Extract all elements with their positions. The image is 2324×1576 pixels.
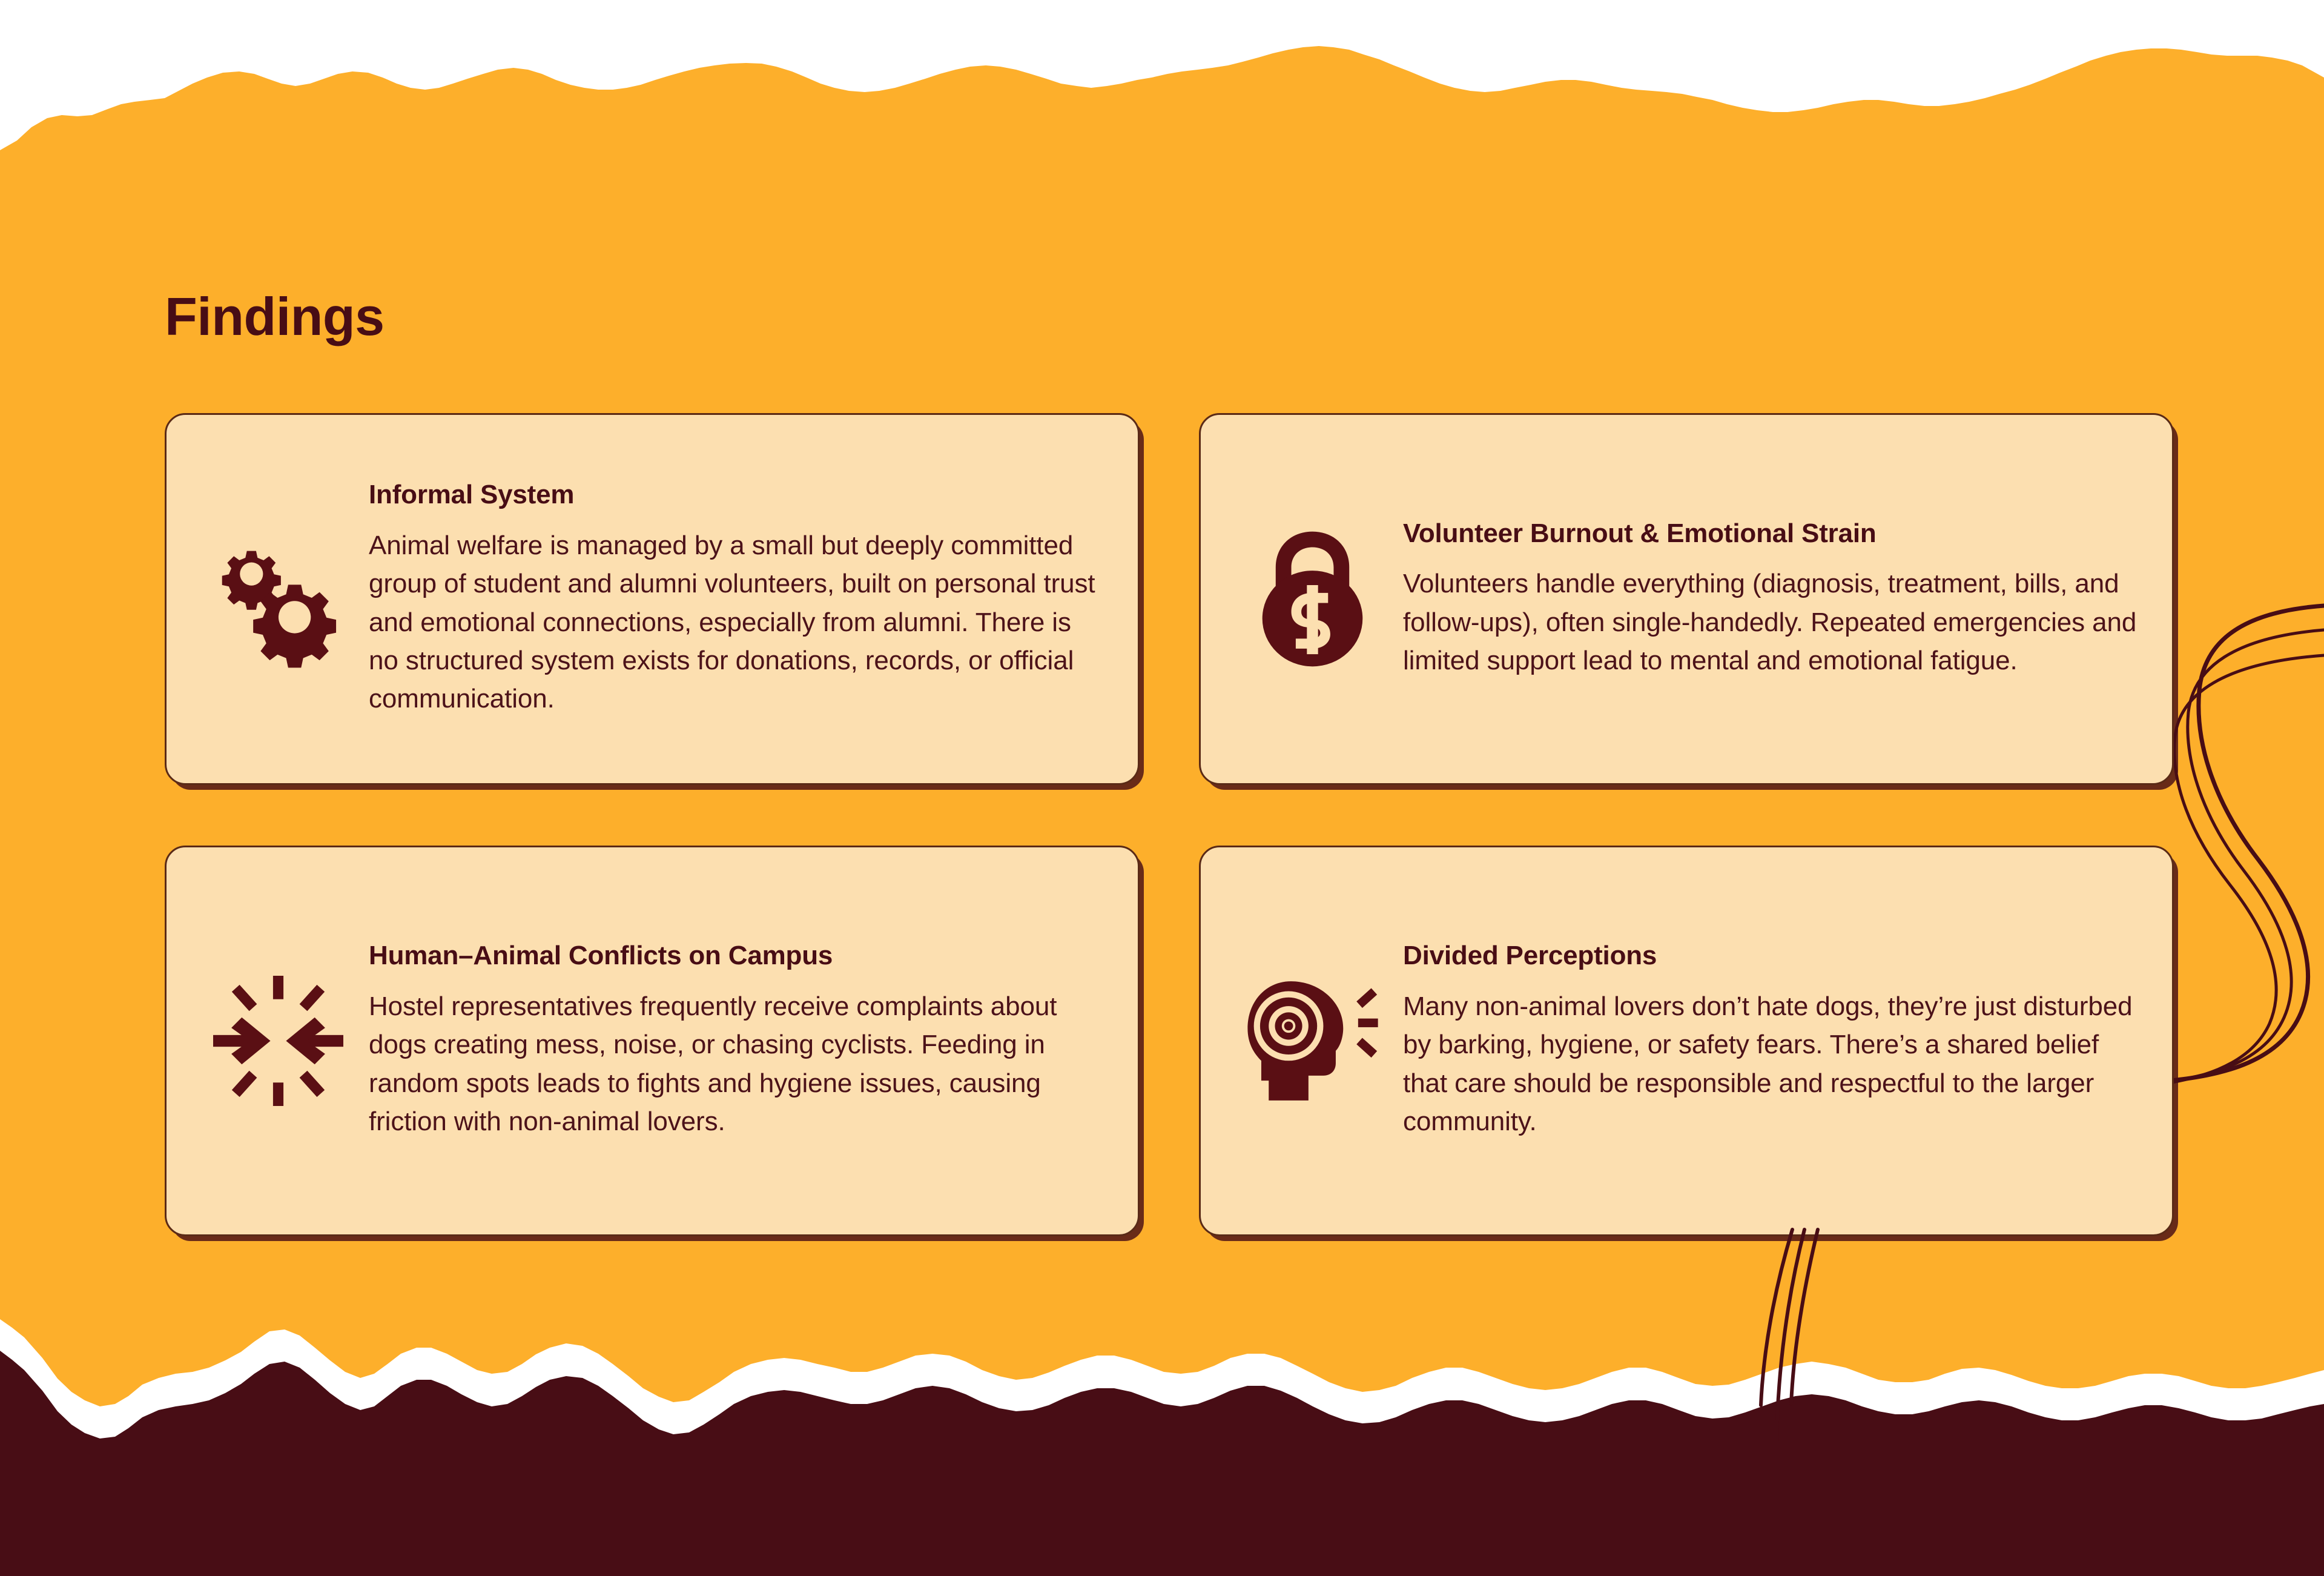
card-title: Volunteer Burnout & Emotional Strain [1403,518,2139,549]
money-bag-icon-svg [1256,529,1368,669]
gears-icon-svg [208,529,348,669]
card-title: Divided Perceptions [1403,941,2139,972]
page-title: Findings [165,290,385,343]
card-text: Volunteers handle everything (diagnosis,… [1403,565,2139,680]
card-text: Hostel representatives frequently receiv… [369,987,1105,1141]
card-text: Many non-animal lovers don’t hate dogs, … [1403,987,2139,1141]
swoosh-tail-2 [1777,1230,1804,1442]
head-target-icon-svg [1246,979,1378,1103]
finding-card-human-animal-conflicts[interactable]: Human–Animal Conflicts on Campus Hostel … [165,846,1140,1236]
finding-card-volunteer-burnout[interactable]: Volunteer Burnout & Emotional Strain Vol… [1199,413,2174,785]
card-row-1: Informal System Animal welfare is manage… [165,413,2174,785]
swoosh-tail-3 [1791,1230,1818,1404]
gears-icon [187,529,369,669]
collision-arrows-icon [187,976,369,1106]
collision-arrows-icon-svg [213,976,343,1106]
head-target-icon [1221,979,1403,1103]
findings-card-grid: Informal System Animal welfare is manage… [165,413,2174,1236]
finding-card-informal-system[interactable]: Informal System Animal welfare is manage… [165,413,1140,785]
card-body: Divided Perceptions Many non-animal love… [1403,941,2145,1141]
card-body: Volunteer Burnout & Emotional Strain Vol… [1403,518,2145,680]
card-row-2: Human–Animal Conflicts on Campus Hostel … [165,846,2174,1236]
money-bag-icon [1221,529,1403,669]
card-body: Informal System Animal welfare is manage… [369,480,1111,718]
card-title: Informal System [369,480,1105,511]
card-text: Animal welfare is managed by a small but… [369,526,1105,718]
finding-card-divided-perceptions[interactable]: Divided Perceptions Many non-animal love… [1199,846,2174,1236]
card-title: Human–Animal Conflicts on Campus [369,941,1105,972]
swoosh-tail-1 [1761,1230,1792,1405]
card-body: Human–Animal Conflicts on Campus Hostel … [369,941,1111,1141]
